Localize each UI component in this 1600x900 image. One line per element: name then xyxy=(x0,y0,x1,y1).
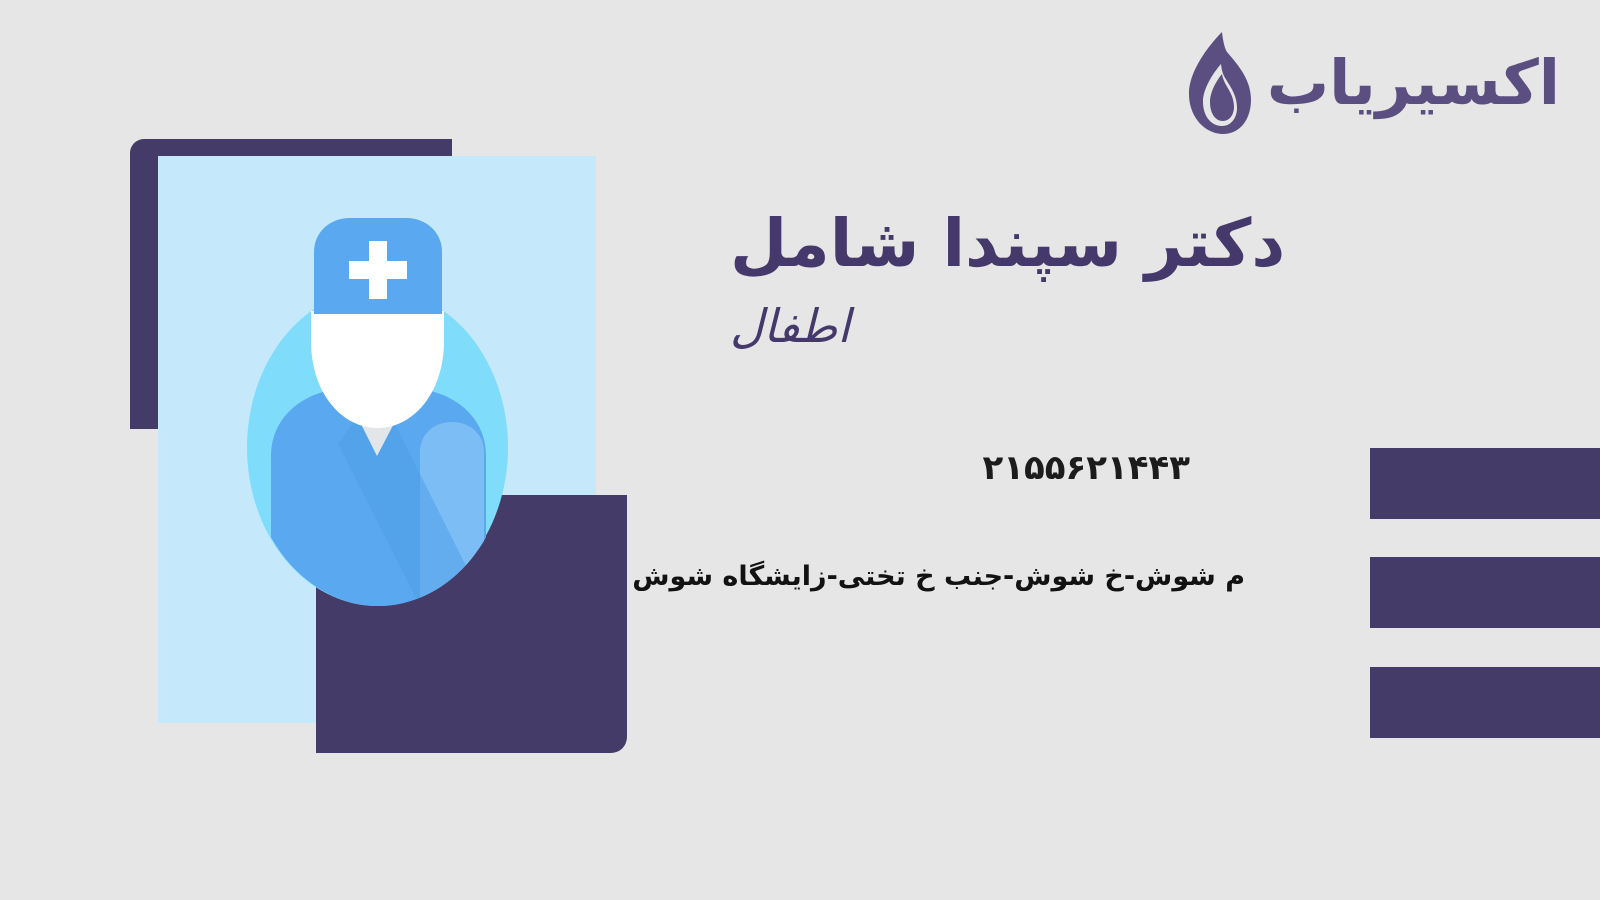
flame-drop-icon xyxy=(1181,30,1253,136)
page-title: دکتر سپندا شامل xyxy=(730,205,1520,283)
doctor-specialty: اطفال xyxy=(730,297,1520,357)
doctor-profile-card: اکسیریاب دکتر سپندا شامل اطفال ۲۱۵۵۶۲۱۴۴… xyxy=(0,0,1600,900)
doctor-phone[interactable]: ۲۱۵۵۶۲۱۴۴۳ xyxy=(982,448,1190,488)
doctor-info: دکتر سپندا شامل اطفال ۲۱۵۵۶۲۱۴۴۳ م شوش-خ… xyxy=(730,205,1520,357)
brand-wordmark: اکسیریاب xyxy=(1267,52,1560,114)
doctor-illustration xyxy=(0,0,700,900)
doctor-avatar-icon xyxy=(158,156,596,723)
doctor-address: م شوش-خ شوش-جنب خ تختی-زایشگاه شوش xyxy=(632,561,1245,592)
brand-logo[interactable]: اکسیریاب xyxy=(1181,30,1560,136)
decor-bar-2 xyxy=(1370,557,1600,628)
decor-bar-1 xyxy=(1370,448,1600,519)
decor-bar-3 xyxy=(1370,667,1600,738)
